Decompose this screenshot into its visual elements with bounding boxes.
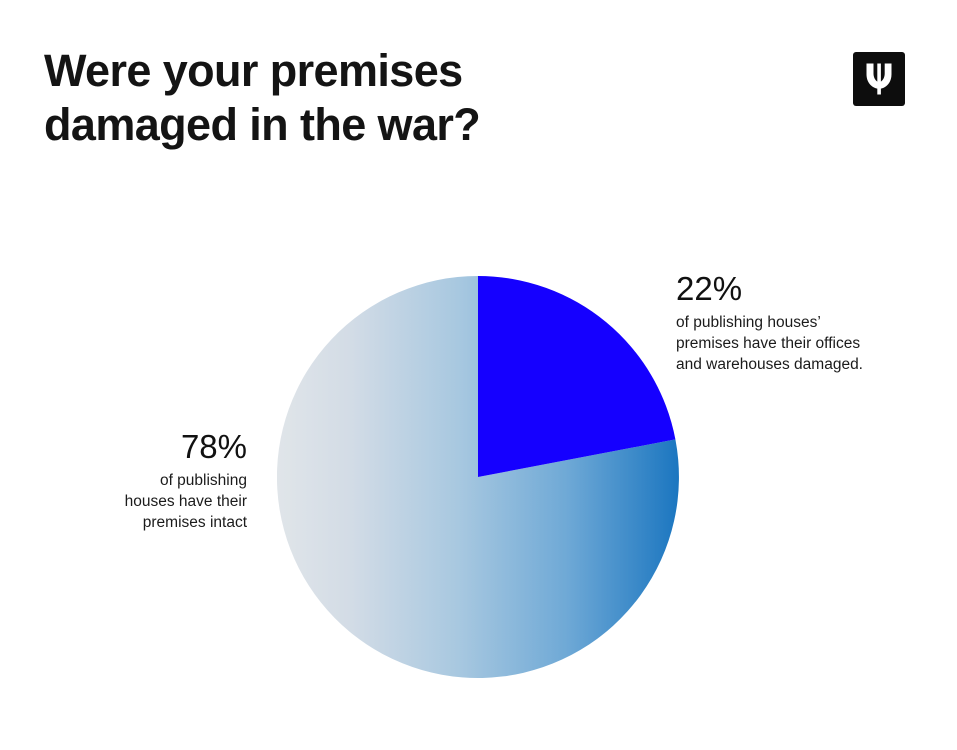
callout-damaged-line-3: and warehouses damaged. — [676, 354, 863, 375]
callout-damaged-description: of publishing houses’ premises have thei… — [676, 312, 863, 375]
callout-intact-line-1: of publishing — [47, 470, 247, 491]
callout-damaged-percent: 22% — [676, 272, 863, 306]
callout-premises-damaged: 22% of publishing houses’ premises have … — [676, 272, 863, 375]
page-title-line-2: damaged in the war? — [44, 98, 604, 152]
callout-damaged-line-1: of publishing houses’ — [676, 312, 863, 333]
publisher-logo — [853, 52, 905, 106]
page-title: Were your premises damaged in the war? — [44, 44, 604, 152]
pie-chart-svg — [277, 276, 679, 678]
pie-chart — [277, 276, 679, 678]
page-title-line-1: Were your premises — [44, 44, 604, 98]
chart-canvas: Were your premises damaged in the war? — [0, 0, 957, 750]
psi-logo-icon — [862, 61, 896, 97]
callout-intact-description: of publishing houses have their premises… — [47, 470, 247, 533]
callout-premises-intact: 78% of publishing houses have their prem… — [47, 430, 247, 533]
callout-damaged-line-2: premises have their offices — [676, 333, 863, 354]
callout-intact-line-2: houses have their — [47, 491, 247, 512]
callout-intact-percent: 78% — [47, 430, 247, 464]
callout-intact-line-3: premises intact — [47, 512, 247, 533]
